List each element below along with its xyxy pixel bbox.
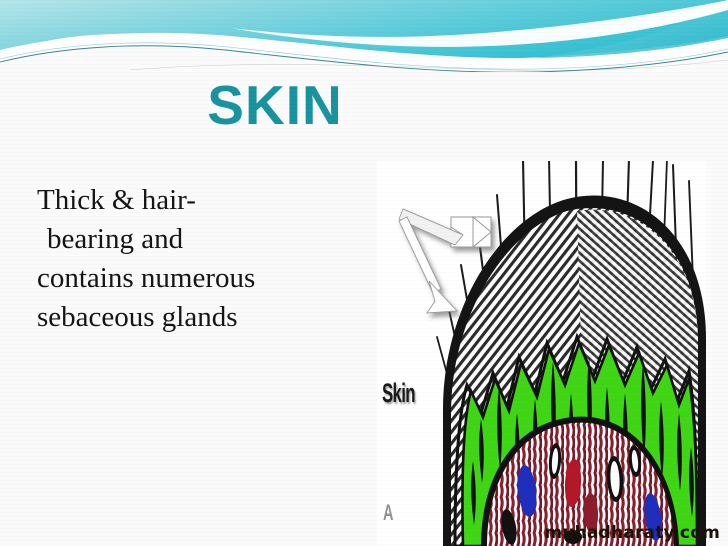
page-title: SKIN bbox=[0, 74, 728, 136]
body-line-3: contains numerous bbox=[37, 259, 367, 298]
body-line-1: Thick & hair- bbox=[37, 181, 367, 220]
figure-sublabel: A bbox=[383, 500, 399, 526]
header-wave-banner bbox=[0, 0, 728, 72]
body-line-2: bearing and bbox=[37, 220, 367, 259]
slide-canvas: SKIN Thick & hair- bearing and contains … bbox=[0, 0, 728, 546]
skin-histology-graphic bbox=[377, 161, 706, 546]
watermark: muhadharaty.com bbox=[544, 523, 720, 543]
teal-wave-banner-graphic bbox=[0, 0, 728, 72]
skin-histology-figure bbox=[377, 161, 706, 546]
body-line-4: sebaceous glands bbox=[37, 298, 367, 337]
slide-body-text: Thick & hair- bearing and contains numer… bbox=[37, 181, 367, 337]
figure-label-skin: Skin bbox=[382, 378, 415, 409]
